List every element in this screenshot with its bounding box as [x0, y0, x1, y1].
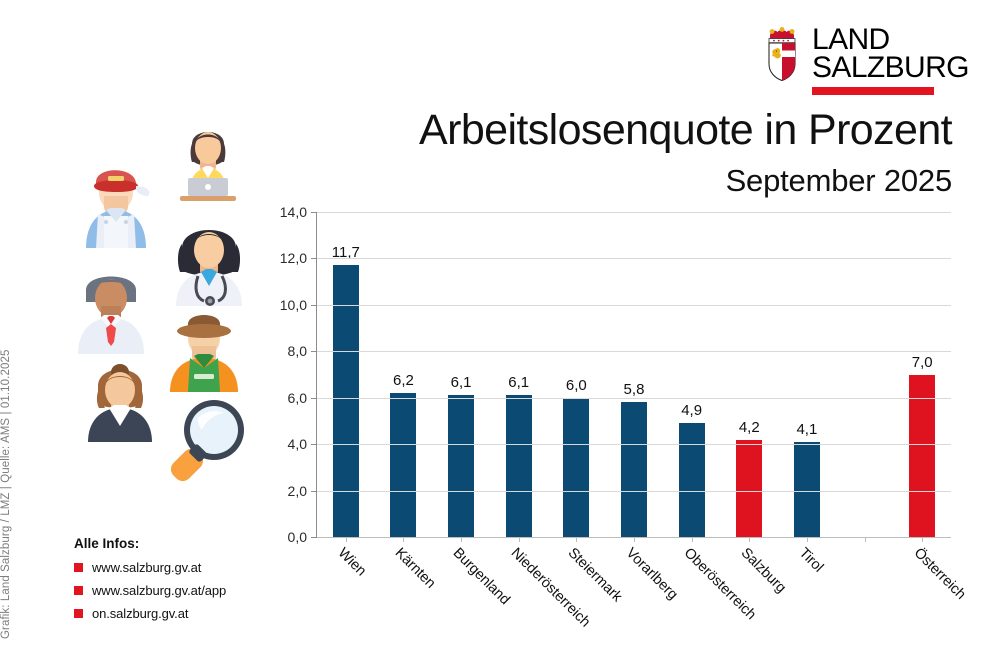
- bullet-square-icon: [74, 609, 83, 618]
- bar-value-label: 7,0: [912, 354, 933, 371]
- bar-value-label: 4,9: [681, 402, 702, 419]
- y-axis-tick: [311, 258, 317, 259]
- unemployment-bar-chart: 11,7Wien6,2Kärnten6,1Burgenland6,1Nieder…: [268, 196, 960, 656]
- man-tie-avatar-icon: [64, 258, 158, 354]
- bar-value-label: 6,2: [393, 372, 414, 389]
- chart-gridline: [317, 351, 951, 352]
- info-row[interactable]: www.salzburg.gv.at: [74, 560, 264, 575]
- logo-text-line1: LAND: [812, 26, 969, 54]
- info-link[interactable]: on.salzburg.gv.at: [92, 606, 188, 621]
- y-axis-label: 2,0: [288, 483, 307, 499]
- chart-category-slot: 7,0Österreich: [893, 212, 951, 537]
- land-salzburg-logo: LAND SALZBURG: [762, 26, 962, 96]
- bar-value-label: 6,0: [566, 377, 587, 394]
- chart-category-slot: 6,0Steiermark: [548, 212, 606, 537]
- chart-category-slot: 5,8Vorarlberg: [605, 212, 663, 537]
- chart-bar[interactable]: 6,0: [563, 398, 589, 537]
- x-axis-label: Wien: [334, 545, 368, 579]
- chart-bar[interactable]: 5,8: [621, 402, 647, 537]
- chart-category-slot: 4,2Salzburg: [720, 212, 778, 537]
- x-axis-label: Kärnten: [392, 545, 439, 592]
- page-title: Arbeitslosenquote in Prozent: [200, 108, 952, 153]
- chart-bar[interactable]: 6,2: [390, 393, 416, 537]
- chart-bar[interactable]: 4,1: [794, 442, 820, 537]
- chart-gridline: [317, 212, 951, 213]
- logo-text-line2: SALZBURG: [812, 54, 969, 82]
- magnifying-glass-icon: [158, 390, 252, 486]
- y-axis-label: 10,0: [280, 297, 307, 313]
- y-axis-label: 6,0: [288, 390, 307, 406]
- bar-value-label: 4,2: [739, 419, 760, 436]
- info-link[interactable]: www.salzburg.gv.at/app: [92, 583, 226, 598]
- x-axis-label: Vorarlberg: [623, 545, 681, 603]
- y-axis-tick: [311, 491, 317, 492]
- info-link[interactable]: www.salzburg.gv.at: [92, 560, 201, 575]
- y-axis-label: 8,0: [288, 343, 307, 359]
- woman-laptop-avatar-icon: [162, 118, 254, 210]
- y-axis-tick: [311, 305, 317, 306]
- info-row[interactable]: www.salzburg.gv.at/app: [74, 583, 264, 598]
- x-axis-label: Burgenland: [450, 545, 513, 608]
- x-axis-label: Tirol: [796, 545, 827, 576]
- y-axis-label: 4,0: [288, 436, 307, 452]
- chart-bar[interactable]: 4,2: [736, 440, 762, 538]
- bar-value-label: 4,1: [796, 421, 817, 438]
- x-axis-label: Steiermark: [565, 545, 625, 605]
- farmer-hat-avatar-icon: [156, 296, 252, 392]
- bullet-square-icon: [74, 563, 83, 572]
- y-axis-tick: [311, 444, 317, 445]
- chart-gridline: [317, 258, 951, 259]
- logo-red-rule: [812, 87, 934, 95]
- y-axis-tick: [311, 212, 317, 213]
- y-axis-label: 0,0: [288, 529, 307, 545]
- chart-category-slot: 4,9Oberösterreich: [663, 212, 721, 537]
- infographic-page: Grafik: Land Salzburg / LMZ | Quelle: AM…: [0, 0, 1000, 667]
- chart-gridline: [317, 444, 951, 445]
- chart-gridline: [317, 537, 951, 538]
- bar-value-label: 6,1: [451, 374, 472, 391]
- chart-bars: 11,7Wien6,2Kärnten6,1Burgenland6,1Nieder…: [317, 212, 951, 537]
- x-axis-label: Salzburg: [738, 545, 789, 596]
- chart-bar[interactable]: 6,1: [506, 395, 532, 537]
- bar-value-label: 5,8: [624, 381, 645, 398]
- info-row[interactable]: on.salzburg.gv.at: [74, 606, 264, 621]
- chart-category-slot: 6,2Kärnten: [375, 212, 433, 537]
- info-block: Alle Infos: www.salzburg.gv.at www.salzb…: [74, 536, 264, 629]
- chart-plot-area: 11,7Wien6,2Kärnten6,1Burgenland6,1Nieder…: [316, 212, 951, 537]
- businesswoman-avatar-icon: [74, 346, 166, 442]
- salzburg-coat-of-arms-icon: [762, 26, 802, 82]
- chart-bar[interactable]: 4,9: [679, 423, 705, 537]
- chart-gridline: [317, 305, 951, 306]
- y-axis-tick: [311, 351, 317, 352]
- chart-bar[interactable]: 7,0: [909, 375, 935, 538]
- chart-gridline: [317, 398, 951, 399]
- y-axis-tick: [311, 537, 317, 538]
- chart-bar[interactable]: 11,7: [333, 265, 359, 537]
- doctor-stethoscope-avatar-icon: [160, 206, 258, 306]
- people-illustration-cluster: [62, 118, 262, 528]
- page-subtitle: September 2025: [200, 163, 952, 199]
- bar-value-label: 6,1: [508, 374, 529, 391]
- bullet-square-icon: [74, 586, 83, 595]
- y-axis-label: 12,0: [280, 250, 307, 266]
- worker-cap-avatar-icon: [68, 152, 164, 248]
- info-title: Alle Infos:: [74, 536, 264, 551]
- chart-gridline: [317, 491, 951, 492]
- chart-category-slot: 4,1Tirol: [778, 212, 836, 537]
- x-axis-label: Österreich: [911, 545, 969, 603]
- chart-category-slot: 11,7Wien: [317, 212, 375, 537]
- y-axis-label: 14,0: [280, 204, 307, 220]
- chart-category-slot: [836, 212, 894, 537]
- chart-category-slot: 6,1Niederösterreich: [490, 212, 548, 537]
- chart-bar[interactable]: 6,1: [448, 395, 474, 537]
- credit-line: Grafik: Land Salzburg / LMZ | Quelle: AM…: [0, 350, 12, 639]
- y-axis-tick: [311, 398, 317, 399]
- chart-category-slot: 6,1Burgenland: [432, 212, 490, 537]
